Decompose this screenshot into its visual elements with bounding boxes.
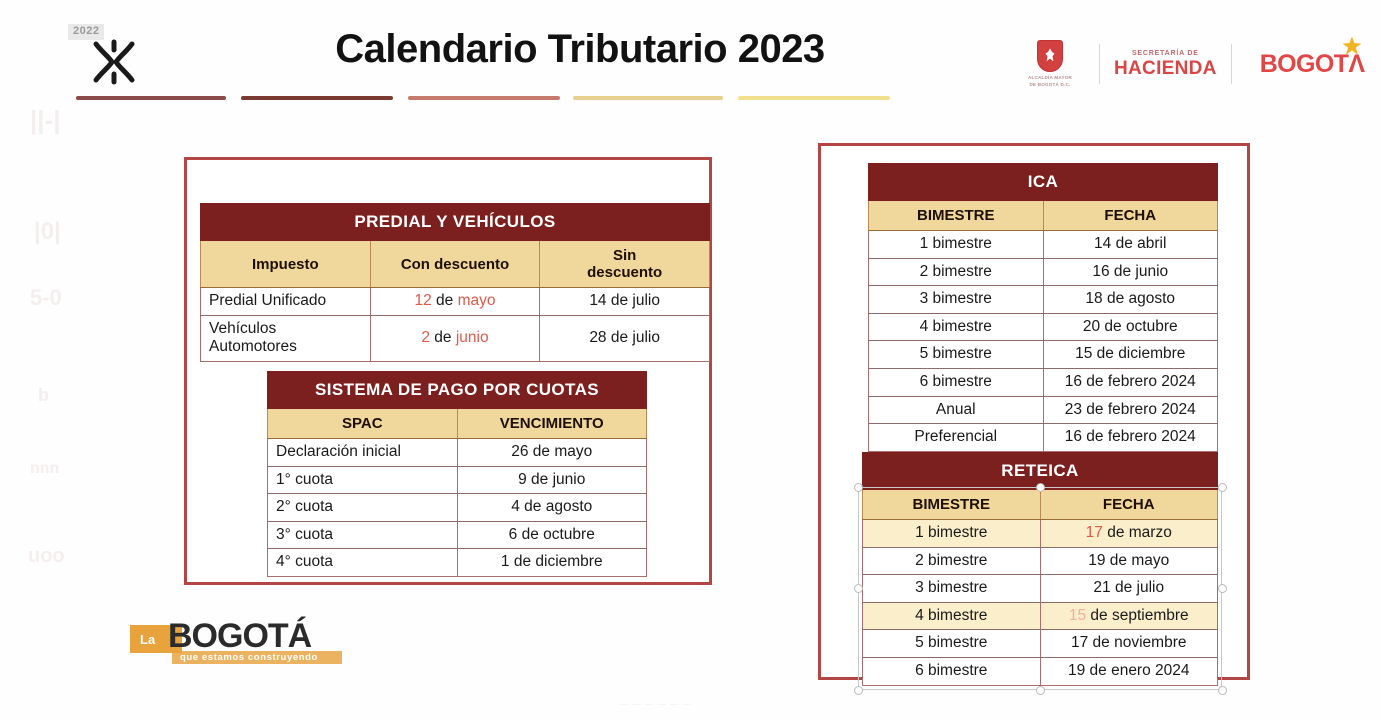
crest-caption-line1: ALCALDÍA MAYOR [1028, 75, 1072, 81]
table-row[interactable]: 2 bimestre19 de mayo [863, 547, 1218, 575]
col-con-descuento: Con descuento [370, 241, 540, 288]
table-row: 2 bimestre16 de junio [869, 258, 1218, 286]
cell-spac: 4° cuota [268, 549, 458, 577]
table-row: 1 bimestre14 de abril [869, 231, 1218, 259]
cell-vencimiento: 9 de junio [457, 466, 647, 494]
cell-spac: 2° cuota [268, 494, 458, 522]
cell-con-descuento: 2 de junio [370, 315, 540, 361]
cell-fecha: 15 de septiembre [1040, 602, 1218, 630]
cell-vencimiento: 6 de octubre [457, 521, 647, 549]
cell-sin-descuento: 14 de julio [540, 288, 710, 316]
col-bimestre: BIMESTRE [869, 201, 1044, 231]
cell-bimestre: 1 bimestre [863, 520, 1041, 548]
table-row: 1° cuota9 de junio [268, 466, 647, 494]
table-row: 4 bimestre20 de octubre [869, 313, 1218, 341]
bogota-wordmark: BOGOT [1260, 50, 1349, 79]
table-row[interactable]: 5 bimestre17 de noviembre [863, 630, 1218, 658]
resize-handle-n[interactable] [1036, 483, 1045, 492]
table-row: 5 bimestre15 de diciembre [869, 341, 1218, 369]
table-row[interactable]: 4 bimestre15 de septiembre [863, 602, 1218, 630]
table-ica: ICA BIMESTRE FECHA 1 bimestre14 de abril… [868, 163, 1218, 452]
ghost-artifact: 5-0 [30, 285, 62, 311]
table-title: ICA [869, 164, 1218, 201]
cell-fecha: 23 de febrero 2024 [1043, 396, 1218, 424]
logo-divider [1231, 44, 1232, 84]
resize-handle-nw[interactable] [854, 483, 863, 492]
resize-handle-s[interactable] [1036, 686, 1045, 695]
bogota-logo: BOGOT Λ [1260, 50, 1365, 79]
cell-impuesto: VehículosAutomotores [201, 315, 371, 361]
cell-bimestre: 4 bimestre [869, 313, 1044, 341]
cell-bimestre: Anual [869, 396, 1044, 424]
decorative-rule-2 [241, 96, 393, 100]
resize-handle-w[interactable] [854, 584, 863, 593]
decorative-rule-1 [76, 96, 226, 100]
cell-sin-descuento: 28 de julio [540, 315, 710, 361]
cell-fecha: 16 de febrero 2024 [1043, 368, 1218, 396]
cell-fecha: 20 de octubre [1043, 313, 1218, 341]
cell-bimestre: Preferencial [869, 424, 1044, 452]
table-row: 2° cuota4 de agosto [268, 494, 647, 522]
cell-bimestre: 4 bimestre [863, 602, 1041, 630]
cell-bimestre: 6 bimestre [869, 368, 1044, 396]
decorative-rule-row [76, 96, 866, 102]
table-row[interactable]: 6 bimestre19 de enero 2024 [863, 657, 1218, 685]
col-impuesto: Impuesto [201, 241, 371, 288]
resize-handle-se[interactable] [1218, 686, 1227, 695]
cell-fecha: 17 de noviembre [1040, 630, 1218, 658]
table-row: Predial Unificado12 de mayo14 de julio [201, 288, 710, 316]
cell-bimestre: 3 bimestre [863, 575, 1041, 603]
cell-bimestre: 3 bimestre [869, 286, 1044, 314]
footer-bogota-logo: La BOGOTÁ que estamos construyendo [130, 617, 345, 665]
decorative-rule-5 [738, 96, 890, 100]
cell-fecha: 16 de junio [1043, 258, 1218, 286]
secretaria-label: SECRETARÍA DE [1132, 50, 1199, 57]
col-bimestre: BIMESTRE [863, 490, 1041, 520]
alcaldia-crest-icon: ALCALDÍA MAYOR DE BOGOTÁ D.C. [1015, 40, 1085, 87]
bogota-a-glyph: Λ [1348, 50, 1364, 79]
cell-fecha: 21 de julio [1040, 575, 1218, 603]
cell-bimestre: 2 bimestre [863, 547, 1041, 575]
ghost-artifact: |0| [34, 218, 61, 246]
cell-vencimiento: 1 de diciembre [457, 549, 647, 577]
cell-spac: Declaración inicial [268, 439, 458, 467]
cell-bimestre: 5 bimestre [863, 630, 1041, 658]
footer-tagline-band: que estamos construyendo [172, 651, 342, 664]
secretaria-hacienda-logo: SECRETARÍA DE HACIENDA [1114, 50, 1217, 78]
cell-vencimiento: 26 de mayo [457, 439, 647, 467]
cell-bimestre: 1 bimestre [869, 231, 1044, 259]
col-fecha: FECHA [1043, 201, 1218, 231]
page-title: Calendario Tributario 2023 [280, 27, 880, 72]
cell-con-descuento: 12 de mayo [370, 288, 540, 316]
cell-spac: 1° cuota [268, 466, 458, 494]
cell-fecha: 17 de marzo [1040, 520, 1218, 548]
resize-handle-sw[interactable] [854, 686, 863, 695]
hacienda-label: HACIENDA [1114, 59, 1217, 78]
cell-bimestre: 2 bimestre [869, 258, 1044, 286]
cell-fecha: 19 de enero 2024 [1040, 657, 1218, 685]
cell-fecha: 15 de diciembre [1043, 341, 1218, 369]
col-vencimiento: VENCIMIENTO [457, 409, 647, 439]
institutional-logos: ALCALDÍA MAYOR DE BOGOTÁ D.C. SECRETARÍA… [1015, 36, 1364, 92]
table-row: Declaración inicial26 de mayo [268, 439, 647, 467]
table-row: Anual23 de febrero 2024 [869, 396, 1218, 424]
table-row[interactable]: 3 bimestre21 de julio [863, 575, 1218, 603]
cell-fecha: 19 de mayo [1040, 547, 1218, 575]
col-sin-descuento: Sindescuento [540, 241, 710, 288]
ghost-artifact: ||-| [30, 105, 60, 136]
cell-fecha: 16 de febrero 2024 [1043, 424, 1218, 452]
table-row: 3 bimestre18 de agosto [869, 286, 1218, 314]
ghost-artifact: b [38, 385, 49, 406]
cell-bimestre: 5 bimestre [869, 341, 1044, 369]
cell-vencimiento: 4 de agosto [457, 494, 647, 522]
logo-divider [1099, 44, 1100, 84]
resize-handle-ne[interactable] [1218, 483, 1227, 492]
crest-caption-line2: DE BOGOTÁ D.C. [1028, 82, 1072, 88]
decorative-rule-4 [573, 96, 723, 100]
ghost-artifact: uoo [28, 545, 65, 568]
table-row: 6 bimestre16 de febrero 2024 [869, 368, 1218, 396]
slide-canvas: ||-| |0| 5-0 b nnn uoo _ _ _ _ _ _ 2022 … [0, 0, 1380, 720]
cell-bimestre: 6 bimestre [863, 657, 1041, 685]
col-spac: SPAC [268, 409, 458, 439]
table-predial-vehiculos: PREDIAL Y VEHÍCULOS Impuesto Con descuen… [200, 203, 710, 362]
table-row: 4° cuota1 de diciembre [268, 549, 647, 577]
ghost-artifact: _ _ _ _ _ _ [620, 690, 691, 707]
footer-tagline: que estamos construyendo [180, 652, 318, 663]
resize-handle-e[interactable] [1218, 584, 1227, 593]
col-fecha: FECHA [1040, 490, 1218, 520]
decorative-rule-3 [408, 96, 560, 100]
table-row: VehículosAutomotores2 de junio28 de juli… [201, 315, 710, 361]
cell-fecha: 14 de abril [1043, 231, 1218, 259]
bogota-x-star-icon [88, 36, 140, 88]
footer-la-label: La [140, 632, 155, 647]
cell-spac: 3° cuota [268, 521, 458, 549]
table-row: 3° cuota6 de octubre [268, 521, 647, 549]
table-sistema-pago-cuotas: SISTEMA DE PAGO POR CUOTAS SPAC VENCIMIE… [267, 371, 647, 577]
table-title: PREDIAL Y VEHÍCULOS [201, 204, 710, 241]
cell-impuesto: Predial Unificado [201, 288, 371, 316]
ghost-artifact: nnn [30, 460, 59, 478]
table-row: Preferencial16 de febrero 2024 [869, 424, 1218, 452]
table-row[interactable]: 1 bimestre17 de marzo [863, 520, 1218, 548]
cell-fecha: 18 de agosto [1043, 286, 1218, 314]
table-title: SISTEMA DE PAGO POR CUOTAS [268, 372, 647, 409]
